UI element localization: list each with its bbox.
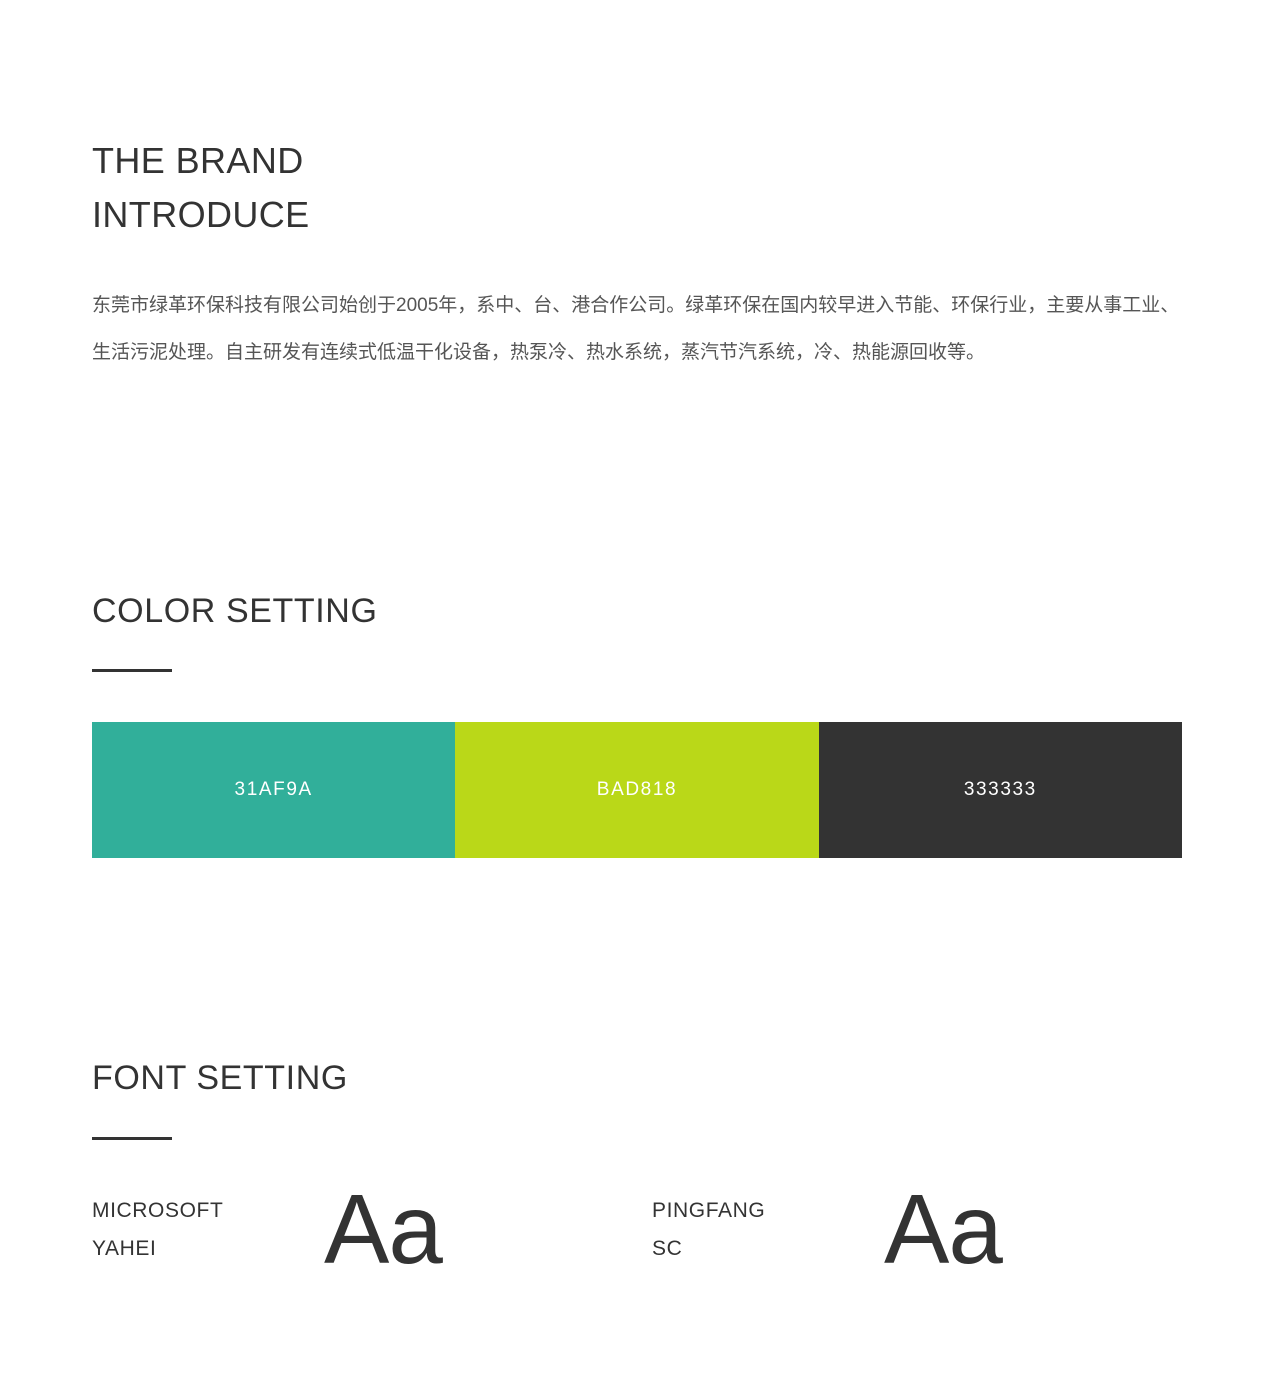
font-sample-glyphs: Aa bbox=[324, 1180, 442, 1278]
color-swatch-label: BAD818 bbox=[597, 779, 677, 801]
font-specimen-microsoft-yahei: MICROSOFT YAHEI Aa bbox=[92, 1180, 652, 1278]
font-setting-divider bbox=[92, 1137, 172, 1140]
font-setting-heading: FONT SETTING bbox=[92, 1058, 348, 1098]
font-sample-glyphs: Aa bbox=[884, 1180, 1002, 1278]
font-specimen-pingfang-sc: PINGFANG SC Aa bbox=[652, 1180, 1212, 1278]
color-setting-divider bbox=[92, 669, 172, 672]
page-title: THE BRAND INTRODUCE bbox=[92, 134, 1192, 242]
color-swatch-label: 333333 bbox=[964, 779, 1037, 801]
color-swatch-secondary: BAD818 bbox=[455, 722, 818, 858]
color-swatch-row: 31AF9A BAD818 333333 bbox=[92, 722, 1182, 858]
color-setting-heading: COLOR SETTING bbox=[92, 591, 378, 631]
font-setting-section: FONT SETTING bbox=[92, 1058, 348, 1140]
font-name-label: PINGFANG SC bbox=[652, 1180, 884, 1268]
color-swatch-neutral: 333333 bbox=[819, 722, 1182, 858]
color-setting-section: COLOR SETTING bbox=[92, 591, 378, 672]
color-swatch-primary: 31AF9A bbox=[92, 722, 455, 858]
brand-introduce-section: THE BRAND INTRODUCE bbox=[92, 134, 1192, 242]
font-name-label: MICROSOFT YAHEI bbox=[92, 1180, 324, 1268]
brand-description-paragraph: 东莞市绿革环保科技有限公司始创于2005年，系中、台、港合作公司。绿革环保在国内… bbox=[92, 282, 1184, 376]
brand-guideline-page: THE BRAND INTRODUCE 东莞市绿革环保科技有限公司始创于2005… bbox=[0, 0, 1280, 1380]
color-swatch-label: 31AF9A bbox=[235, 779, 313, 801]
font-specimen-row: MICROSOFT YAHEI Aa PINGFANG SC Aa bbox=[92, 1180, 1182, 1278]
